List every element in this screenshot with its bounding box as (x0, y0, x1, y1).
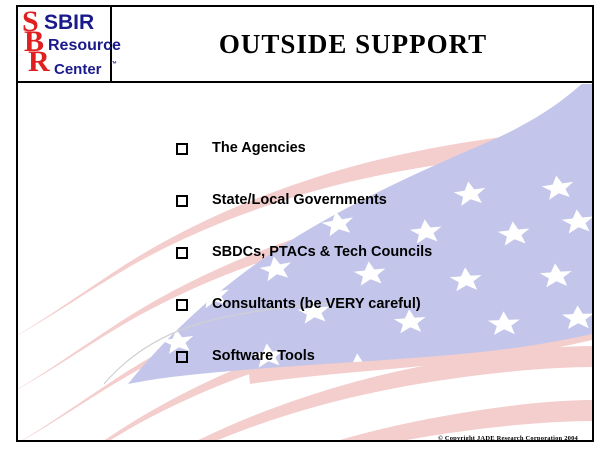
list-item: Consultants (be VERY careful) (176, 296, 432, 348)
sbir-resource-center-logo[interactable]: S B R SBIR Resource Center ™ (18, 5, 110, 83)
bullet-list: The Agencies State/Local Governments SBD… (176, 140, 432, 400)
list-item-label: State/Local Governments (212, 192, 387, 209)
list-item: Software Tools (176, 348, 432, 400)
empty-square-bullet-icon (176, 247, 188, 259)
empty-square-bullet-icon (176, 143, 188, 155)
empty-square-bullet-icon (176, 299, 188, 311)
list-item-label: Consultants (be VERY careful) (212, 296, 421, 313)
list-item-label: SBDCs, PTACs & Tech Councils (212, 244, 432, 261)
list-item: SBDCs, PTACs & Tech Councils (176, 244, 432, 296)
logo-text-resource: Resource (48, 38, 121, 54)
list-item: The Agencies (176, 140, 432, 192)
list-item: State/Local Governments (176, 192, 432, 244)
logo-mark-r: R (28, 47, 50, 77)
empty-square-bullet-icon (176, 351, 188, 363)
copyright-notice: © Copyright JADE Research Corporation 20… (438, 435, 578, 442)
page-title: OUTSIDE SUPPORT (112, 5, 594, 83)
empty-square-bullet-icon (176, 195, 188, 207)
logo-text-center: Center (54, 62, 102, 77)
list-item-label: The Agencies (212, 140, 306, 157)
logo-text-sbir: SBIR (44, 12, 94, 33)
slide-canvas: S B R SBIR Resource Center ™ OUTSIDE SUP… (0, 0, 600, 450)
list-item-label: Software Tools (212, 348, 315, 365)
